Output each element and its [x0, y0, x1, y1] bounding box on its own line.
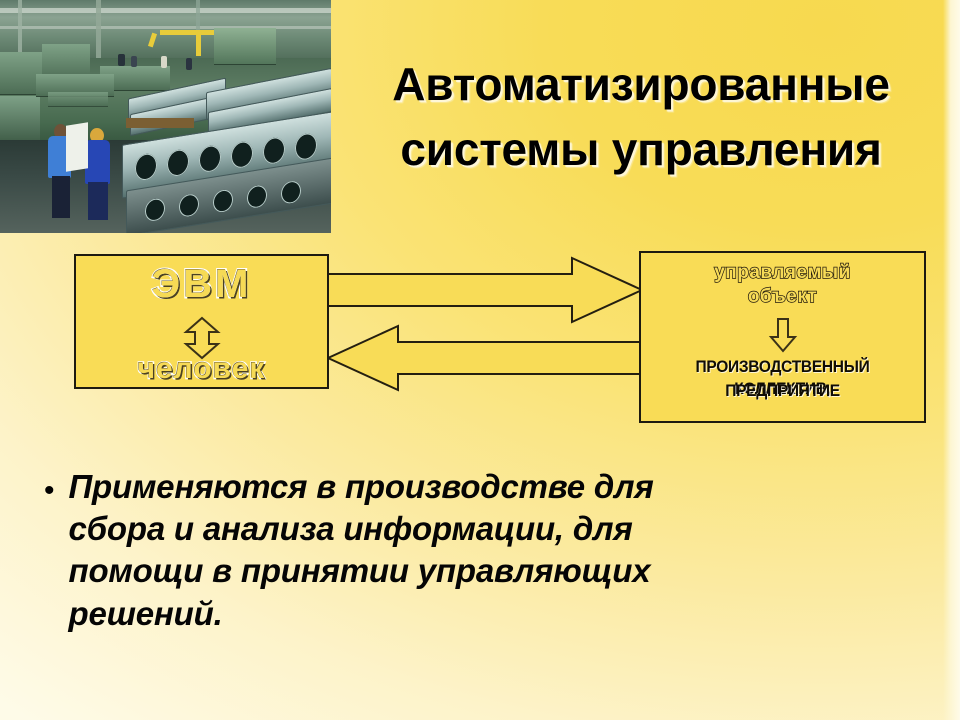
- photo-crane-post: [196, 30, 201, 56]
- photo-pallet: [126, 118, 194, 128]
- photo-background-person: [131, 56, 137, 67]
- down-arrow-icon: [769, 317, 797, 353]
- controlled-object-label-line-1: управляемый: [641, 262, 924, 284]
- controlled-object-box: управляемый объект ПРОИЗВОДСТВЕННЫЙ КОЛЛ…: [639, 251, 926, 423]
- bullet-marker: •: [44, 476, 55, 506]
- photo-machine: [214, 28, 276, 65]
- photo-background-person: [186, 58, 192, 70]
- photo-machine: [0, 96, 40, 145]
- human-label: человек: [76, 352, 327, 386]
- photo-worker-legs: [88, 182, 108, 220]
- arrow-left-feedback: [320, 324, 650, 414]
- controlled-object-label-line-2: объект: [641, 286, 924, 308]
- photo-roof-beam: [0, 8, 331, 13]
- factory-floor-photo: [0, 0, 331, 233]
- photo-background-person: [118, 54, 125, 66]
- page-title: Автоматизированные системы управления: [330, 52, 952, 183]
- photo-worker-legs: [52, 176, 70, 218]
- photo-background-person: [161, 56, 167, 68]
- photo-roof-beam: [0, 26, 331, 29]
- photo-blueprint-sheet: [66, 122, 88, 171]
- body-bullet-list: • Применяются в производстве для сбора и…: [38, 466, 928, 635]
- photo-conveyor: [48, 92, 108, 107]
- enterprise-label: ПРЕДПРИЯТИЕ: [649, 381, 915, 403]
- evm-label: ЭВМ: [76, 262, 327, 307]
- photo-column: [18, 0, 22, 58]
- photo-column: [96, 0, 101, 62]
- page-title-line-1: Автоматизированные: [330, 52, 952, 117]
- control-system-diagram: ЭВМ человек управляемый объект ПРОИЗВОДС…: [0, 232, 960, 407]
- presentation-slide: Автоматизированные системы управления ЭВ…: [0, 0, 960, 720]
- photo-worker-body: [85, 140, 110, 184]
- bullet-item-text: Применяются в производстве для сбора и а…: [69, 466, 679, 635]
- page-title-line-2: системы управления: [330, 117, 952, 182]
- control-subject-box: ЭВМ человек: [74, 254, 329, 389]
